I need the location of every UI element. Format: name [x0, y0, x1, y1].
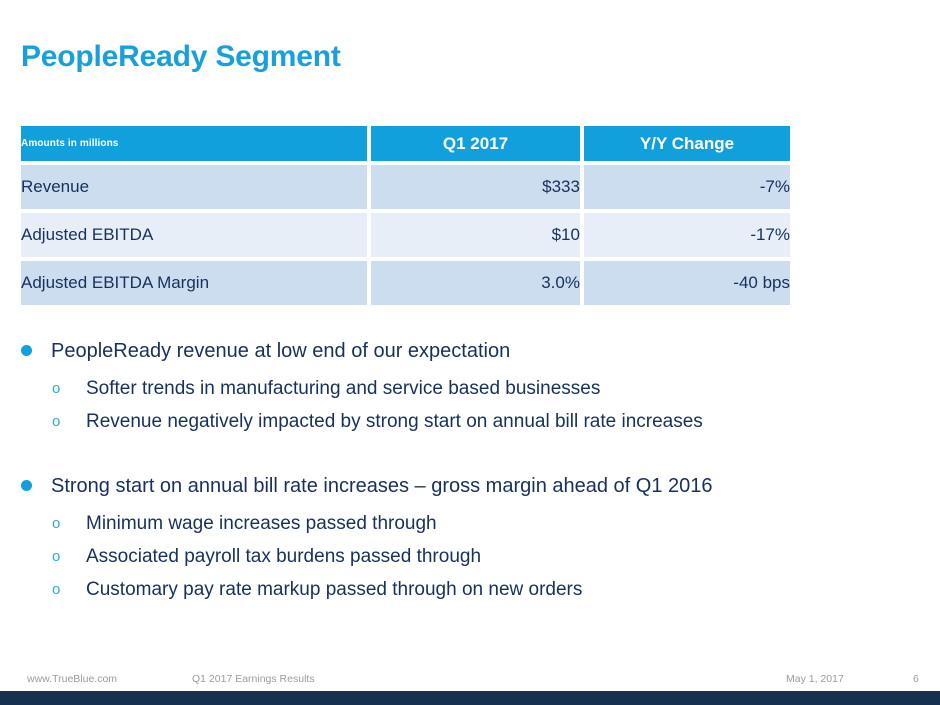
bullet-dot-icon — [21, 338, 51, 356]
row-value-adjusted-ebitda-yy: -17% — [584, 213, 790, 257]
sub-bullet-text: Associated payroll tax burdens passed th… — [86, 542, 481, 572]
bullet-dot-icon — [21, 473, 51, 491]
table-header-yy-change: Y/Y Change — [584, 126, 790, 161]
row-value-adjusted-ebitda-q1: $10 — [371, 213, 584, 257]
table-row: Revenue $333 -7% — [21, 165, 790, 209]
bullet-group-2: Strong start on annual bill rate increas… — [21, 473, 921, 605]
sub-bullet-text: Revenue negatively impacted by strong st… — [86, 407, 703, 437]
table-row: Adjusted EBITDA Margin 3.0% -40 bps — [21, 261, 790, 305]
bullet-list: PeopleReady revenue at low end of our ex… — [21, 338, 921, 619]
sub-bullet-item: o Customary pay rate markup passed throu… — [21, 575, 921, 605]
bullet-item: PeopleReady revenue at low end of our ex… — [21, 338, 921, 364]
row-label-adjusted-ebitda: Adjusted EBITDA — [21, 213, 371, 257]
sub-bullet-circle-icon: o — [21, 374, 86, 404]
sub-bullet-circle-icon: o — [21, 407, 86, 437]
footer-page-number: 6 — [913, 673, 919, 685]
bullet-item: Strong start on annual bill rate increas… — [21, 473, 921, 499]
row-value-revenue-yy: -7% — [584, 165, 790, 209]
sub-bullet-circle-icon: o — [21, 509, 86, 539]
row-label-adjusted-ebitda-margin: Adjusted EBITDA Margin — [21, 261, 371, 305]
sub-bullet-text: Customary pay rate markup passed through… — [86, 575, 582, 605]
footer-website: www.TrueBlue.com — [27, 673, 117, 685]
table-header-q1-2017: Q1 2017 — [371, 126, 584, 161]
sub-bullet-circle-icon: o — [21, 542, 86, 572]
footer-date: May 1, 2017 — [786, 673, 844, 685]
sub-bullet-circle-icon: o — [21, 575, 86, 605]
table-row: Adjusted EBITDA $10 -17% — [21, 213, 790, 257]
sub-bullet-item: o Softer trends in manufacturing and ser… — [21, 374, 921, 404]
segment-metrics-table: Amounts in millions Q1 2017 Y/Y Change R… — [21, 126, 790, 305]
row-value-revenue-q1: $333 — [371, 165, 584, 209]
row-label-revenue: Revenue — [21, 165, 371, 209]
sub-bullet-item: o Revenue negatively impacted by strong … — [21, 407, 921, 437]
row-value-adjusted-ebitda-margin-yy: -40 bps — [584, 261, 790, 305]
bullet-group-spacer — [21, 451, 921, 473]
slide: PeopleReady Segment Amounts in millions … — [0, 0, 940, 705]
row-value-adjusted-ebitda-margin-q1: 3.0% — [371, 261, 584, 305]
bottom-accent-bar — [0, 691, 940, 705]
slide-footer: www.TrueBlue.com Q1 2017 Earnings Result… — [0, 673, 940, 691]
bullet-group-1: PeopleReady revenue at low end of our ex… — [21, 338, 921, 437]
footer-deck-title: Q1 2017 Earnings Results — [192, 673, 315, 685]
table-header-amounts-label: Amounts in millions — [21, 126, 371, 161]
sub-bullet-text: Minimum wage increases passed through — [86, 509, 437, 539]
sub-bullet-item: o Minimum wage increases passed through — [21, 509, 921, 539]
sub-bullet-text: Softer trends in manufacturing and servi… — [86, 374, 600, 404]
bullet-text: Strong start on annual bill rate increas… — [51, 473, 713, 499]
sub-bullet-item: o Associated payroll tax burdens passed … — [21, 542, 921, 572]
page-title: PeopleReady Segment — [21, 40, 341, 74]
table-header-row: Amounts in millions Q1 2017 Y/Y Change — [21, 126, 790, 161]
bullet-text: PeopleReady revenue at low end of our ex… — [51, 338, 510, 364]
